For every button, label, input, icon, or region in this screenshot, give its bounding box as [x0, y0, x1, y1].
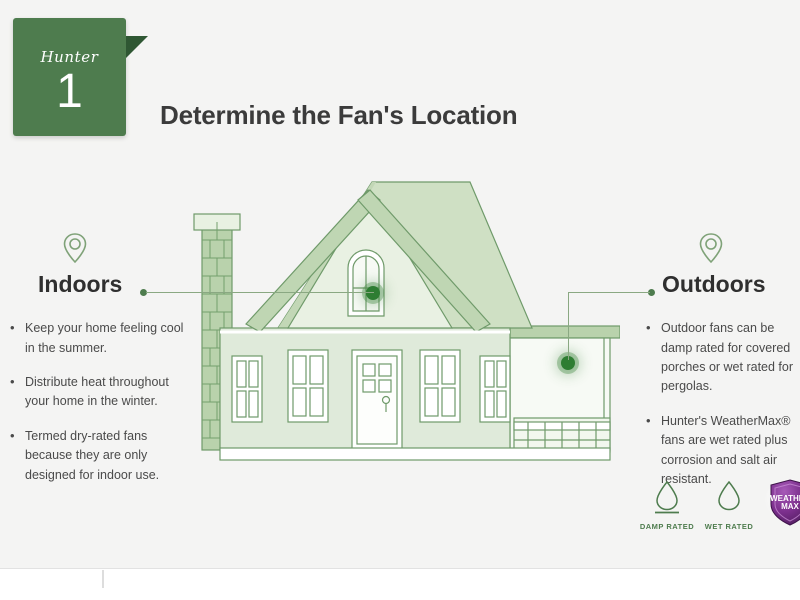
- brand-name: Hunter: [13, 48, 126, 66]
- step-badge-panel: Hunter 1: [13, 18, 126, 136]
- page-title: Determine the Fan's Location: [160, 100, 517, 131]
- window: [420, 350, 460, 422]
- indoors-heading: Indoors: [0, 272, 185, 297]
- window: [232, 356, 262, 422]
- window: [288, 350, 328, 422]
- list-item: Distribute heat throughout your home in …: [8, 373, 185, 412]
- house-illustration: [180, 160, 620, 500]
- outdoor-connector-line-v: [568, 292, 569, 360]
- wet-rated-badge: WET RATED: [698, 478, 760, 531]
- list-item: Termed dry-rated fans because they are o…: [8, 427, 185, 485]
- outdoors-heading: Outdoors: [636, 272, 800, 297]
- indoor-fan-marker: [366, 286, 380, 300]
- map-pin-icon: [698, 232, 724, 264]
- infographic-slide: Hunter 1 Determine the Fan's Location: [0, 0, 800, 600]
- outdoors-bullet-list: Outdoor fans can be damp rated for cover…: [644, 319, 800, 489]
- droplet-covered-icon: [650, 478, 684, 514]
- indoors-column: Indoors Keep your home feeling cool in t…: [0, 232, 185, 500]
- badge-fold-corner: [126, 36, 148, 58]
- outdoors-column: Outdoors Outdoor fans can be damp rated …: [636, 232, 800, 504]
- rating-badges: DAMP RATED WET RATED: [636, 478, 800, 533]
- damp-rated-badge: DAMP RATED: [636, 478, 698, 531]
- droplet-icon: [712, 478, 746, 514]
- step-number: 1: [13, 68, 126, 116]
- weathermax-line2: MAX: [781, 502, 799, 511]
- indoors-pin-row: [0, 232, 185, 266]
- weathermax-badge: WEATHER MAX: [764, 476, 800, 528]
- outdoors-pin-row: [636, 232, 800, 266]
- shield-icon: WEATHER MAX: [764, 476, 800, 528]
- window: [480, 356, 510, 422]
- attic-window: [348, 250, 384, 316]
- bottom-divider: [0, 568, 800, 600]
- list-item: Outdoor fans can be damp rated for cover…: [644, 319, 800, 397]
- porch-railing: [514, 418, 610, 452]
- bottom-tick-mark: [102, 570, 104, 588]
- wet-rated-label: WET RATED: [698, 522, 760, 531]
- map-pin-icon: [62, 232, 88, 264]
- step-badge: Hunter 1: [13, 18, 148, 140]
- front-door: [352, 350, 402, 450]
- list-item: Keep your home feeling cool in the summe…: [8, 319, 185, 358]
- damp-rated-label: DAMP RATED: [636, 522, 698, 531]
- indoors-bullet-list: Keep your home feeling cool in the summe…: [8, 319, 185, 485]
